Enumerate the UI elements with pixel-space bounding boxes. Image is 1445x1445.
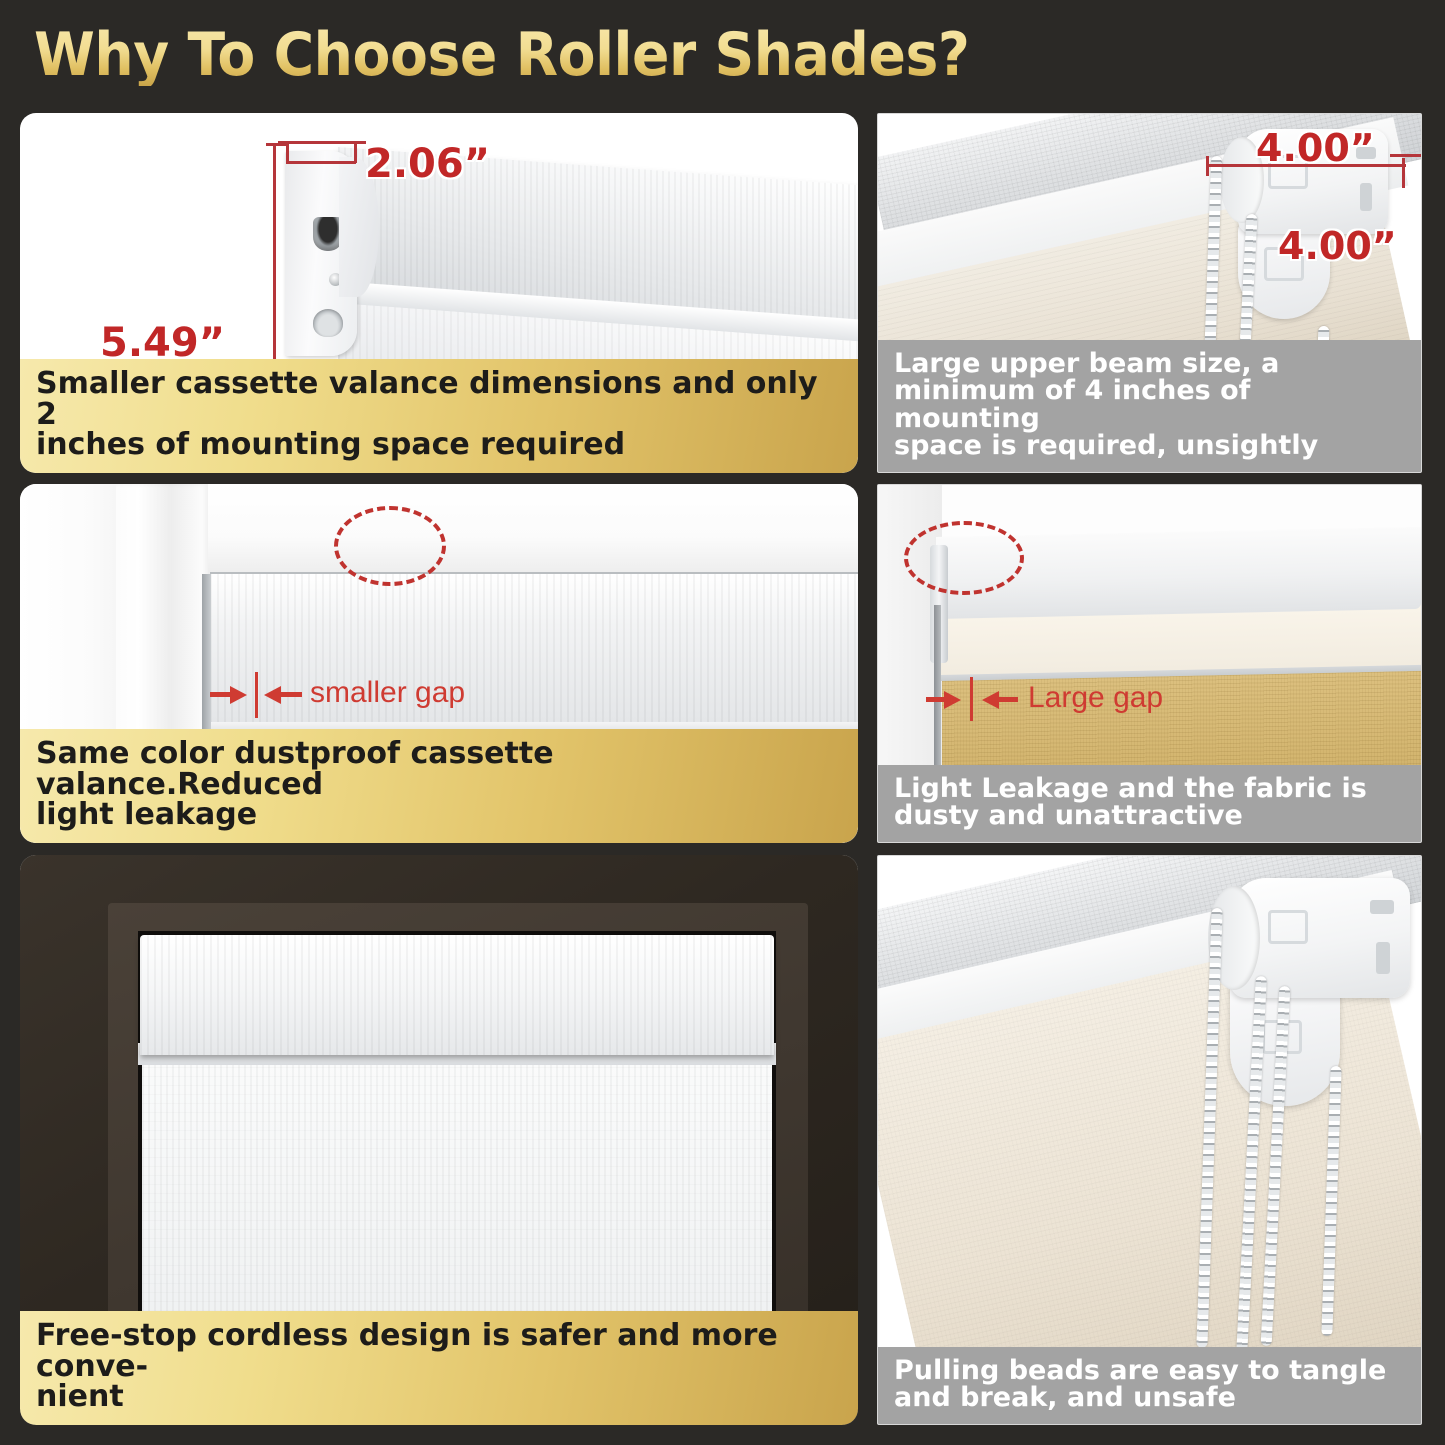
caption-line-2: dusty and unattractive <box>894 802 1405 830</box>
bracket-emblem-upper <box>1268 910 1308 944</box>
panel-cassette-valance-dimensions: 2.06” 5.49” Smaller cassette valance dim… <box>20 113 858 473</box>
caption-line-1: Light Leakage and the fabric is <box>894 775 1405 803</box>
panel-large-upper-beam: 4.00” 4.00” Large upper beam size, a min… <box>877 113 1422 473</box>
gap-arrow-left <box>944 691 961 709</box>
gap-arrow-left <box>230 686 247 704</box>
width-dim-extension <box>278 141 366 144</box>
caption-pulling-beads-tangle: Pulling beads are easy to tangle and bre… <box>878 1347 1421 1424</box>
caption-line-1: Same color dustproof cassette valance.Re… <box>36 739 842 800</box>
caption-dustproof-cassette-valance: Same color dustproof cassette valance.Re… <box>20 729 858 843</box>
caption-cassette-valance-dimensions: Smaller cassette valance dimensions and … <box>20 359 858 473</box>
bracket-notch-1 <box>1370 900 1394 914</box>
gap-marker <box>255 672 258 718</box>
gap-arrow-left-tail <box>926 697 946 702</box>
caption-line-2: and break, and unsafe <box>894 1384 1405 1412</box>
caption-light-leakage: Light Leakage and the fabric is dusty an… <box>878 765 1421 842</box>
beam-width-tick-right <box>1402 158 1405 188</box>
caption-line-1: Pulling beads are easy to tangle <box>894 1357 1405 1385</box>
caption-line-2: minimum of 4 inches of mounting <box>894 377 1405 432</box>
gap-arrow-right <box>982 691 999 709</box>
caption-line-2: inches of mounting space required <box>36 430 842 461</box>
cassette-valance <box>140 935 774 1055</box>
gap-arrow-left-tail <box>210 692 232 697</box>
caption-line-1: Free-stop cordless design is safer and m… <box>36 1321 842 1382</box>
panel-free-stop-cordless-design: Free-stop cordless design is safer and m… <box>20 855 858 1425</box>
panel-light-leakage: Large gap Light Leakage and the fabric i… <box>877 484 1422 843</box>
bracket-notch-2 <box>1360 183 1372 211</box>
beam-height-tick-top <box>1390 154 1421 157</box>
caption-large-upper-beam: Large upper beam size, a minimum of 4 in… <box>878 340 1421 472</box>
width-dimension-label: 2.06” <box>365 141 490 187</box>
height-dim-tick-top <box>266 143 288 146</box>
beam-width-label: 4.00” <box>1256 126 1375 170</box>
bracket-slot-upper <box>313 217 343 251</box>
large-gap-label: Large gap <box>1028 681 1163 715</box>
beam-width-tick-left <box>1206 156 1209 176</box>
panel-dustproof-cassette-valance: smaller gap Same color dustproof cassett… <box>20 484 858 843</box>
bracket-slot-lower <box>313 309 343 337</box>
caption-line-1: Smaller cassette valance dimensions and … <box>36 369 842 430</box>
bracket-notch-2 <box>1376 942 1390 974</box>
caption-free-stop-cordless-design: Free-stop cordless design is safer and m… <box>20 1311 858 1425</box>
bracket-screw <box>329 273 342 286</box>
panel-pulling-beads-tangle: Pulling beads are easy to tangle and bre… <box>877 855 1422 1425</box>
gap-arrow-right-tail <box>280 692 302 697</box>
caption-line-2: nient <box>36 1382 842 1413</box>
product-photo-bead-chain-roller <box>878 856 1421 1424</box>
page-title: Why To Choose Roller Shades? <box>34 24 969 86</box>
gap-marker <box>970 677 973 721</box>
beam-height-label: 4.00” <box>1278 224 1397 268</box>
gap-arrow-right-tail <box>998 697 1018 702</box>
valance-end-bracket <box>285 151 357 356</box>
smaller-gap-label: smaller gap <box>310 676 465 710</box>
caption-line-1: Large upper beam size, a <box>894 350 1405 378</box>
gap-arrow-right <box>264 686 281 704</box>
cassette-valance <box>210 572 858 722</box>
width-dim-line <box>286 161 356 164</box>
gap-highlight-circle <box>904 521 1024 595</box>
window-header <box>170 484 858 580</box>
gap-highlight-circle <box>334 506 446 586</box>
header-bar: Why To Choose Roller Shades? <box>0 0 1445 105</box>
width-dim-tick-right <box>354 141 357 163</box>
caption-line-3: space is required, unsightly <box>894 432 1405 460</box>
caption-line-2: light leakage <box>36 800 842 831</box>
